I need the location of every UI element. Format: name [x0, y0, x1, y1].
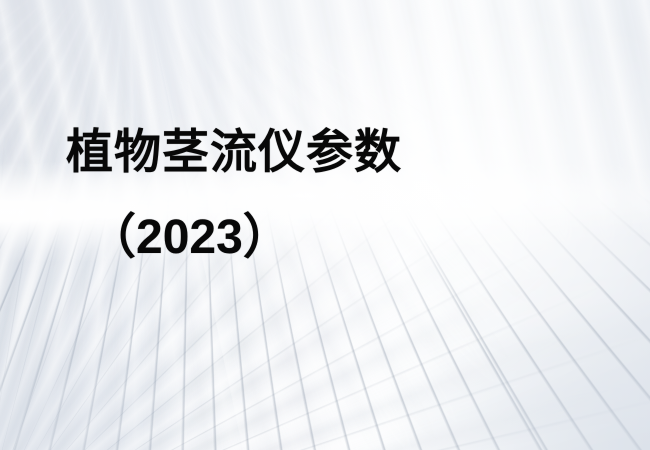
title-slide: 植物茎流仪参数 （2023） [0, 0, 650, 450]
title-block: 植物茎流仪参数 （2023） [66, 128, 402, 262]
page-title: 植物茎流仪参数 [66, 128, 402, 175]
page-subtitle-year: （2023） [88, 214, 402, 262]
